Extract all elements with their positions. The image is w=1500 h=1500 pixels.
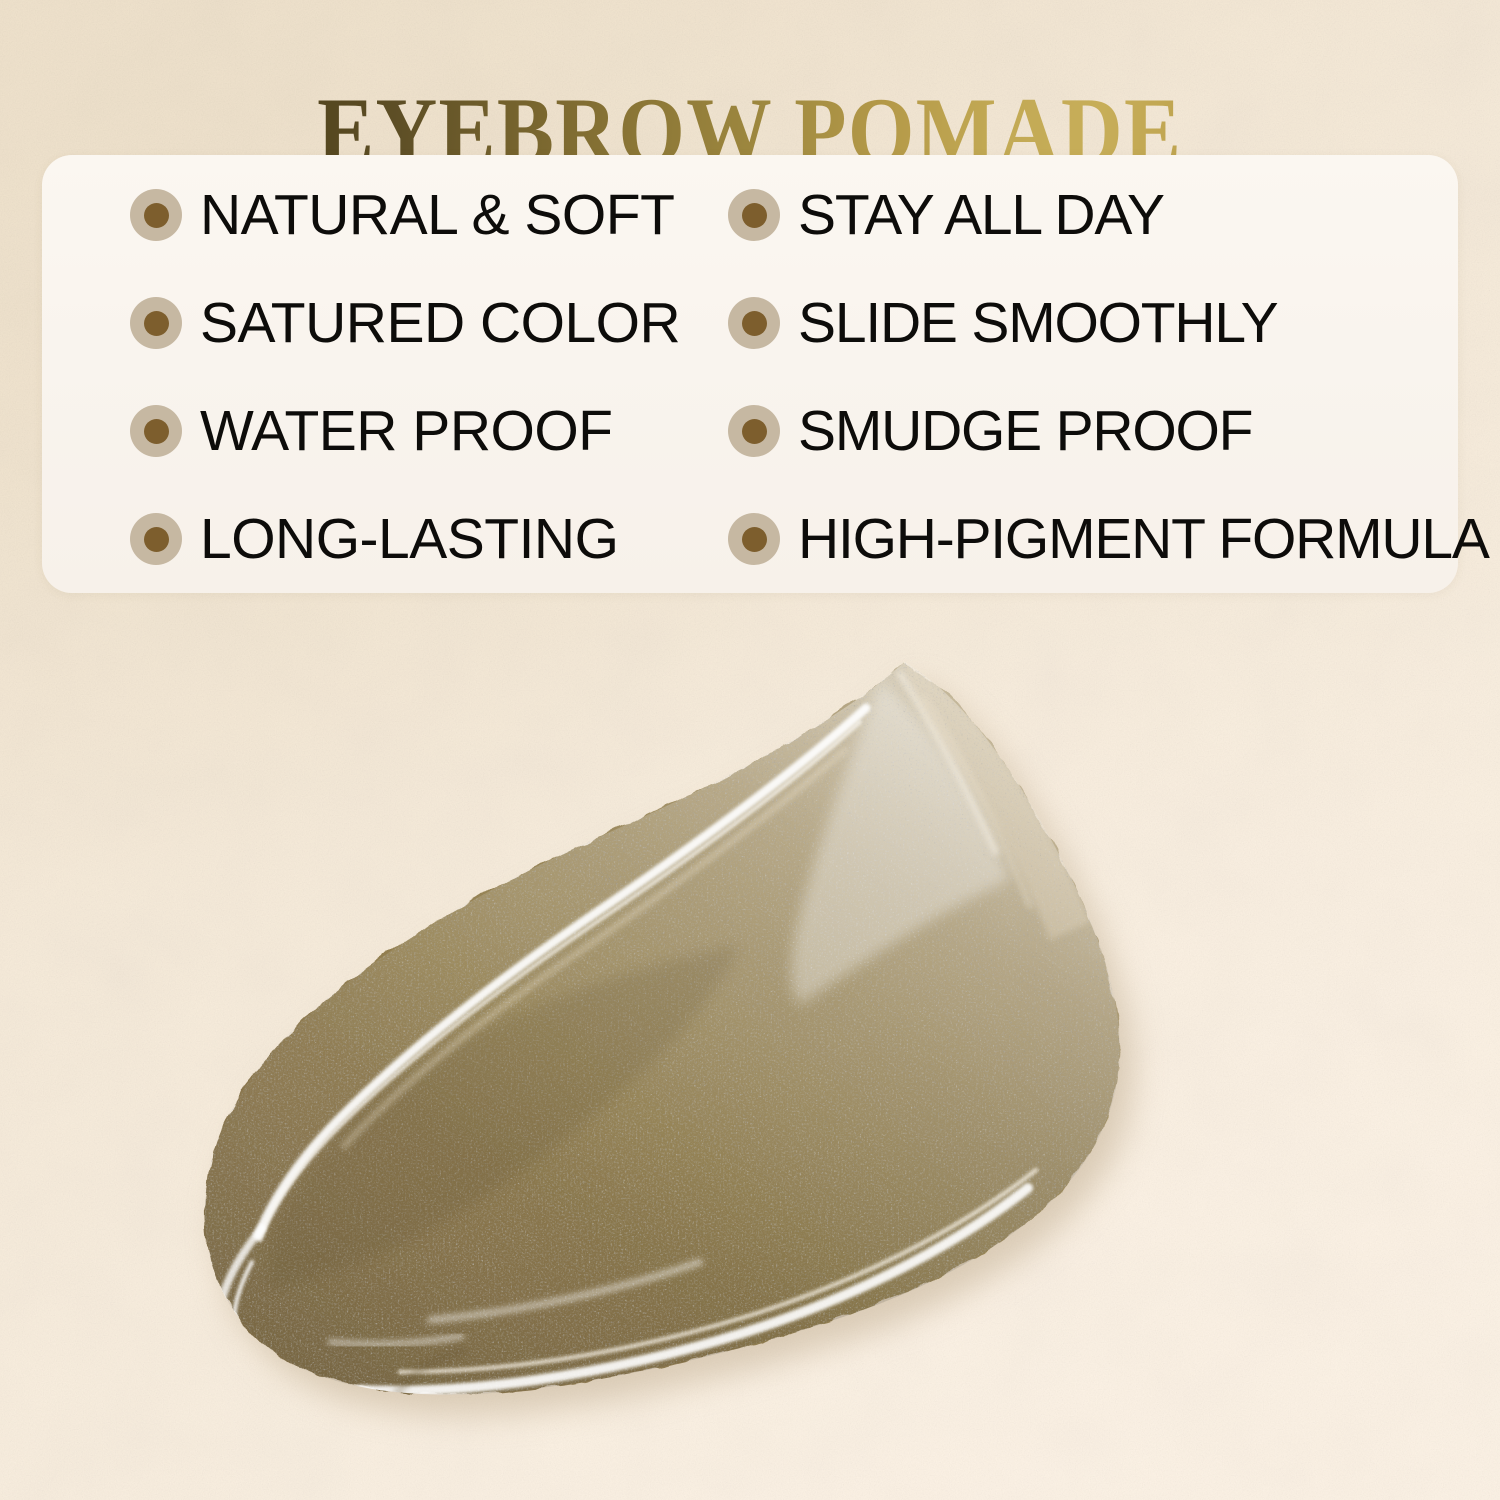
product-feature-image: EYEBROW POMADE NATURAL & SOFT STAY ALL D… (0, 0, 1500, 1500)
bullet-dot-icon (130, 297, 182, 349)
feature-label: LONG-LASTING (200, 511, 618, 568)
product-swatch (0, 600, 1500, 1500)
feature-item-slide-smoothly: SLIDE SMOOTHLY (642, 295, 1458, 352)
bullet-dot-icon (130, 405, 182, 457)
feature-item-stay-all-day: STAY ALL DAY (642, 187, 1458, 244)
bullet-dot-icon (728, 297, 780, 349)
bullet-dot-icon (130, 513, 182, 565)
feature-label: STAY ALL DAY (798, 187, 1164, 244)
bullet-dot-icon (728, 405, 780, 457)
feature-label: WATER PROOF (200, 403, 612, 460)
pomade-smear-swatch (0, 600, 1500, 1500)
feature-item-natural-soft: NATURAL & SOFT (42, 187, 642, 244)
feature-label: NATURAL & SOFT (200, 187, 674, 244)
feature-label: SATURED COLOR (200, 295, 680, 352)
feature-label: HIGH-PIGMENT FORMULA (798, 511, 1489, 568)
feature-list: NATURAL & SOFT STAY ALL DAY SATURED COLO… (42, 155, 1458, 593)
feature-item-high-pigment-formula: HIGH-PIGMENT FORMULA (642, 511, 1458, 568)
bullet-dot-icon (728, 513, 780, 565)
feature-label: SLIDE SMOOTHLY (798, 295, 1277, 352)
feature-item-smudge-proof: SMUDGE PROOF (642, 403, 1458, 460)
bullet-dot-icon (728, 189, 780, 241)
feature-item-long-lasting: LONG-LASTING (42, 511, 642, 568)
bullet-dot-icon (130, 189, 182, 241)
feature-card: NATURAL & SOFT STAY ALL DAY SATURED COLO… (42, 155, 1458, 593)
swatch-body (144, 616, 1207, 1445)
feature-item-satured-color: SATURED COLOR (42, 295, 642, 352)
feature-item-water-proof: WATER PROOF (42, 403, 642, 460)
feature-label: SMUDGE PROOF (798, 403, 1252, 460)
